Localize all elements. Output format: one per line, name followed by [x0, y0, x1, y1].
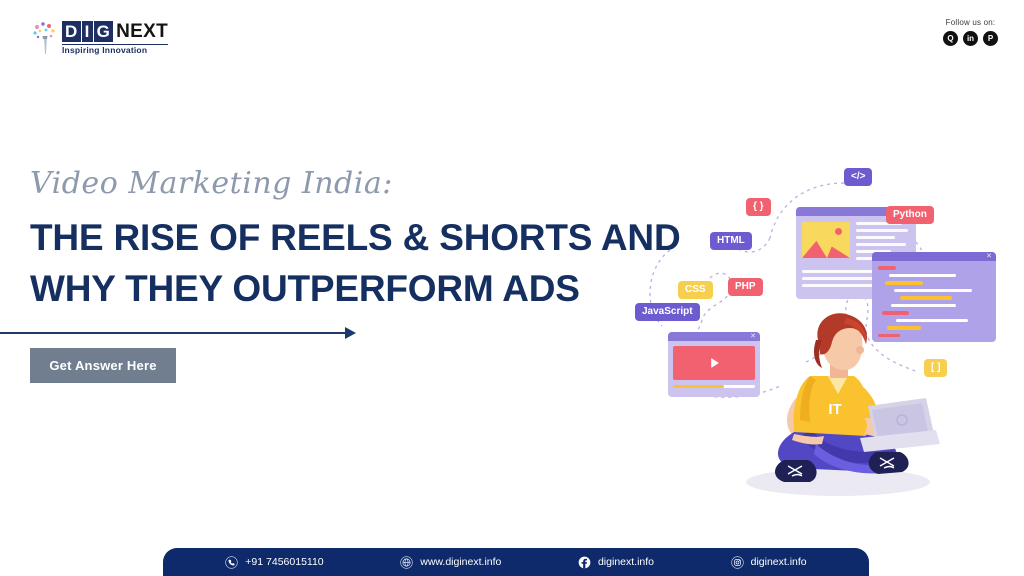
tag-php: PHP — [728, 278, 763, 296]
footer-facebook-text: diginext.info — [598, 556, 654, 568]
tag-html: HTML — [710, 232, 752, 250]
facebook-icon — [578, 556, 591, 569]
logo-letter-g: G — [94, 21, 114, 42]
close-icon[interactable]: ✕ — [986, 253, 992, 260]
follow-us-label: Follow us on: — [943, 18, 998, 27]
footer-instagram-text: diginext.info — [751, 556, 807, 568]
page-title: THE RISE OF REELS & SHORTS AND WHY THEY … — [30, 212, 650, 314]
window-title-bar: ✕ — [872, 252, 996, 261]
globe-icon — [400, 556, 413, 569]
slide-canvas: D I G NEXT Inspiring Innovation Follow u… — [0, 0, 1024, 576]
footer-instagram[interactable]: diginext.info — [731, 556, 807, 569]
follow-us-block: Follow us on: Q in P — [943, 18, 998, 46]
pinterest-icon[interactable]: P — [983, 31, 998, 46]
tag-code-brackets: </> — [844, 168, 872, 186]
developer-character: IT — [688, 310, 988, 500]
instagram-icon — [731, 556, 744, 569]
svg-text:IT: IT — [828, 401, 841, 418]
brand-logo[interactable]: D I G NEXT Inspiring Innovation — [32, 21, 168, 55]
sparkle-torch-icon — [32, 21, 58, 55]
logo-letter-i: I — [82, 21, 93, 42]
tag-css: CSS — [678, 281, 713, 299]
linkedin-icon[interactable]: in — [963, 31, 978, 46]
logo-letter-d: D — [62, 21, 81, 42]
footer-phone-text: +91 7456015110 — [245, 556, 323, 568]
quora-icon[interactable]: Q — [943, 31, 958, 46]
phone-icon — [225, 556, 238, 569]
decorative-arrow-head — [345, 327, 356, 339]
footer-phone[interactable]: +91 7456015110 — [225, 556, 323, 569]
hero-script-title: Video Marketing India: — [30, 166, 393, 201]
footer-website[interactable]: www.diginext.info — [400, 556, 501, 569]
logo-next-text: NEXT — [116, 23, 168, 41]
headline-line-1: THE RISE OF REELS & SHORTS AND — [30, 212, 650, 263]
footer-facebook[interactable]: diginext.info — [578, 556, 654, 569]
tag-python: Python — [886, 206, 934, 224]
social-icons-row: Q in P — [943, 31, 998, 46]
tag-curly-braces: { } — [746, 198, 771, 216]
developer-coding-illustration: ✕ — [610, 150, 1020, 505]
headline-line-2: WHY THEY OUTPERFORM ADS — [30, 263, 650, 314]
image-placeholder-icon — [802, 222, 850, 258]
footer-bar: +91 7456015110 www.diginext.info diginex… — [163, 548, 869, 576]
footer-website-text: www.diginext.info — [420, 556, 501, 568]
get-answer-here-button[interactable]: Get Answer Here — [30, 348, 176, 383]
logo-tagline: Inspiring Innovation — [62, 44, 168, 55]
decorative-arrow-line — [0, 332, 348, 334]
